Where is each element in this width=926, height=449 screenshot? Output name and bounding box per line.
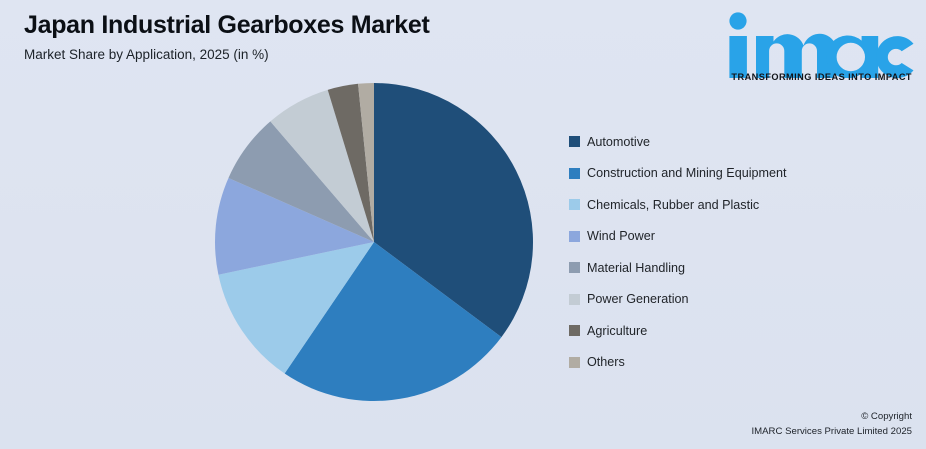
legend-item[interactable]: Chemicals, Rubber and Plastic [569, 189, 899, 221]
pie-chart [214, 82, 534, 402]
chart-page: Japan Industrial Gearboxes Market Market… [0, 0, 926, 449]
chart-header: Japan Industrial Gearboxes Market Market… [24, 10, 644, 64]
legend-item-label: Others [587, 354, 625, 370]
chart-legend: AutomotiveConstruction and Mining Equipm… [569, 126, 899, 378]
legend-item-label: Material Handling [587, 260, 685, 276]
copyright-footer: © Copyright IMARC Services Private Limit… [752, 409, 913, 439]
legend-item[interactable]: Material Handling [569, 252, 899, 284]
page-title: Japan Industrial Gearboxes Market [24, 10, 644, 40]
legend-item[interactable]: Automotive [569, 126, 899, 158]
legend-item-label: Chemicals, Rubber and Plastic [587, 197, 759, 213]
pie-chart-svg [214, 82, 534, 402]
legend-swatch-icon [569, 325, 580, 336]
imarc-logo: TRANSFORMING IDEAS INTO IMPACT [716, 8, 916, 86]
legend-item[interactable]: Construction and Mining Equipment [569, 158, 899, 190]
chart-subtitle: Market Share by Application, 2025 (in %) [24, 46, 644, 64]
copyright-line: © Copyright [752, 409, 913, 424]
legend-swatch-icon [569, 136, 580, 147]
legend-item[interactable]: Power Generation [569, 284, 899, 316]
legend-item-label: Power Generation [587, 291, 689, 307]
legend-item-label: Wind Power [587, 228, 655, 244]
legend-swatch-icon [569, 262, 580, 273]
legend-item-label: Agriculture [587, 323, 647, 339]
company-line: IMARC Services Private Limited 2025 [752, 424, 913, 439]
legend-item[interactable]: Others [569, 347, 899, 379]
legend-item-label: Automotive [587, 134, 650, 150]
legend-item[interactable]: Agriculture [569, 315, 899, 347]
legend-swatch-icon [569, 231, 580, 242]
legend-swatch-icon [569, 199, 580, 210]
legend-swatch-icon [569, 357, 580, 368]
legend-item[interactable]: Wind Power [569, 221, 899, 253]
legend-item-label: Construction and Mining Equipment [587, 165, 787, 181]
imarc-wordmark-icon [724, 12, 914, 78]
legend-swatch-icon [569, 168, 580, 179]
legend-swatch-icon [569, 294, 580, 305]
imarc-tagline: TRANSFORMING IDEAS INTO IMPACT [731, 72, 912, 82]
